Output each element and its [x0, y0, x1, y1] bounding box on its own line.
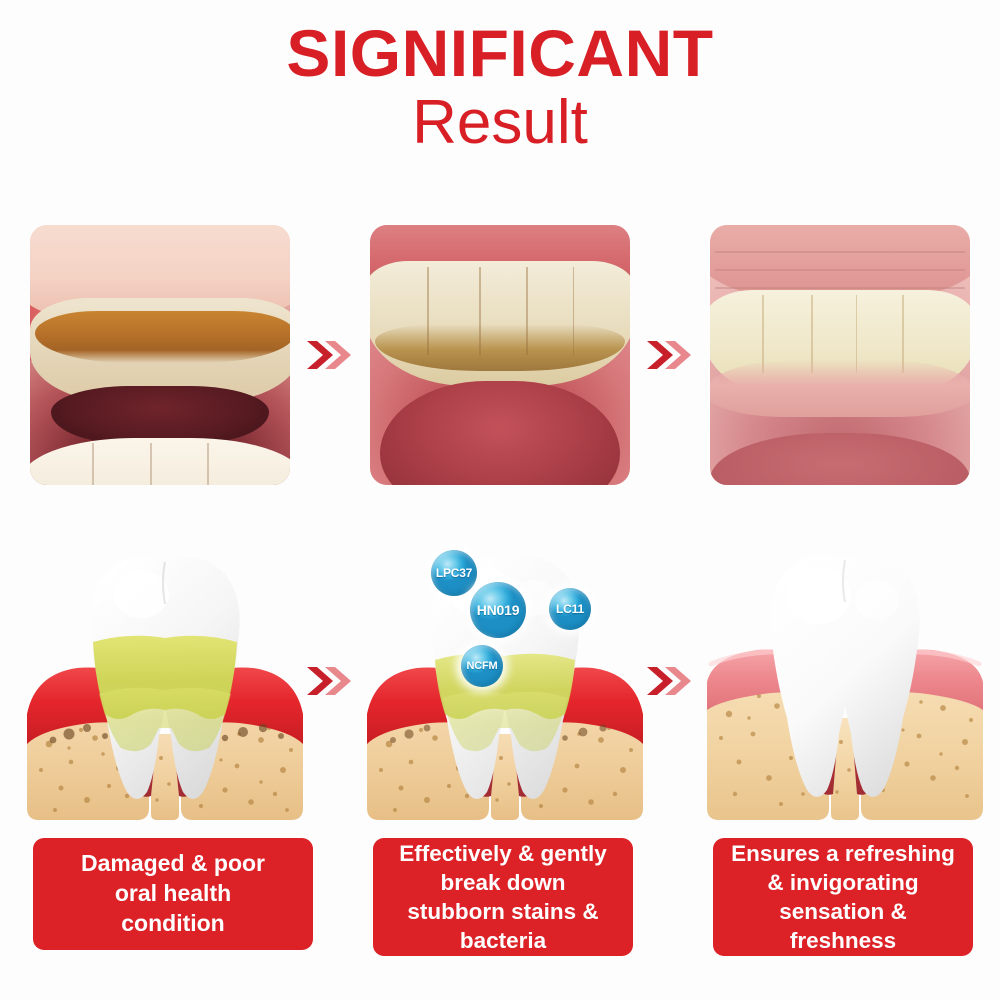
caption-line: condition	[81, 909, 265, 939]
caption-stage-1: Damaged & poor oral health condition	[33, 838, 313, 950]
photo-clean-healthy-teeth	[710, 225, 970, 485]
infographic-page: SIGNIFICANT Result	[0, 0, 1000, 1000]
caption-line: Effectively & gently	[399, 839, 607, 868]
caption-line: stubborn stains &	[399, 897, 607, 926]
microbe-bubble-lpc37: LPC37	[431, 550, 477, 596]
caption-stage-3: Ensures a refreshing & invigorating sens…	[713, 838, 973, 956]
microbe-bubble-ncfm: NCFM	[461, 645, 503, 687]
caption-line: & invigorating	[731, 868, 955, 897]
microbe-bubble-lc11: LC11	[549, 588, 591, 630]
photo-partially-cleaned-teeth	[370, 225, 630, 485]
caption-line: Damaged & poor	[81, 849, 265, 879]
caption-line: sensation &	[731, 897, 955, 926]
tooth-diagram-healthy	[705, 538, 985, 828]
caption-stage-2: Effectively & gently break down stubborn…	[373, 838, 633, 956]
caption-line: bacteria	[399, 926, 607, 955]
caption-line: freshness	[731, 926, 955, 955]
caption-line: oral health	[81, 879, 265, 909]
microbe-bubble-hn019: HN019	[470, 582, 526, 638]
caption-line: Ensures a refreshing	[731, 839, 955, 868]
title-line-secondary: Result	[0, 88, 1000, 157]
photo-heavy-tartar-upper-teeth	[30, 225, 290, 485]
tooth-diagram-cleaning	[365, 538, 645, 828]
caption-line: break down	[399, 868, 607, 897]
arrow-photo-1-to-2	[303, 335, 353, 375]
page-title: SIGNIFICANT Result	[0, 20, 1000, 157]
arrow-diagram-2-to-3	[643, 661, 693, 701]
tooth-diagram-damaged	[25, 538, 305, 828]
arrow-diagram-1-to-2	[303, 661, 353, 701]
arrow-photo-2-to-3	[643, 335, 693, 375]
title-line-primary: SIGNIFICANT	[0, 20, 1000, 86]
